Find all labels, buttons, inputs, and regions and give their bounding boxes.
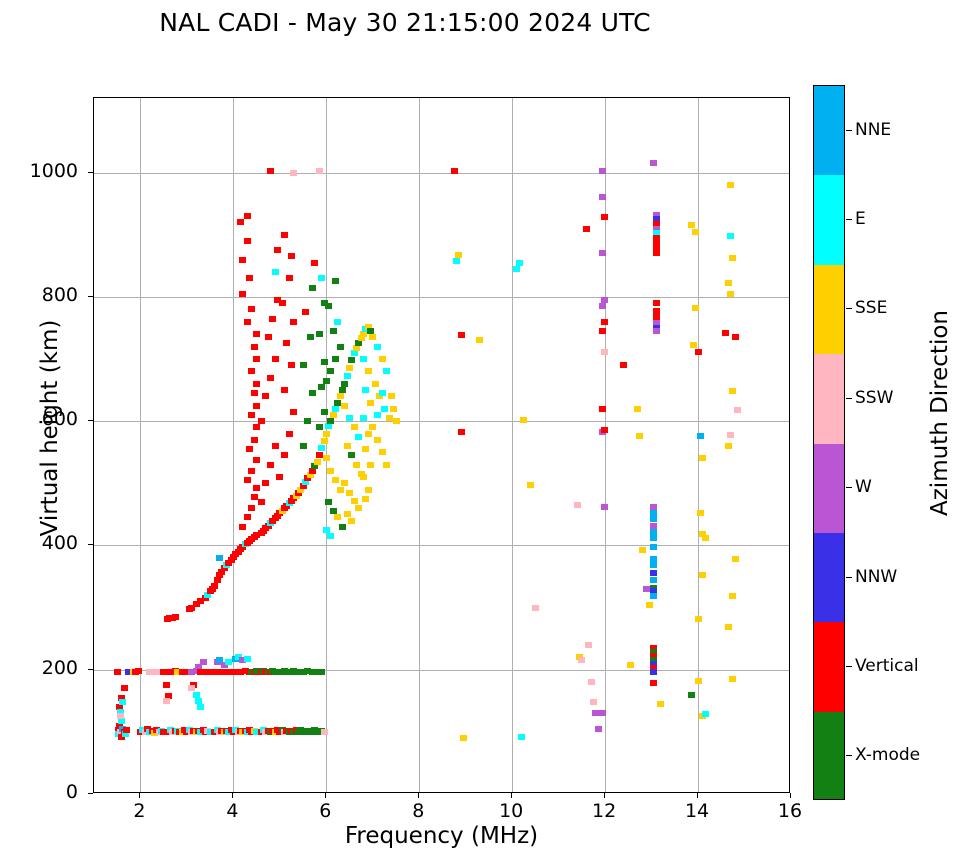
- echo-point: [355, 434, 362, 440]
- echo-point: [321, 438, 328, 444]
- echo-point: [316, 424, 323, 430]
- echo-point: [360, 356, 367, 362]
- echo-point: [239, 291, 246, 297]
- echo-point: [599, 406, 606, 412]
- echo-point: [253, 356, 260, 362]
- echo-point: [729, 676, 736, 682]
- echo-point: [251, 494, 258, 500]
- y-axis-title: Virtual height (km): [37, 248, 63, 608]
- echo-point: [695, 678, 702, 684]
- echo-point: [634, 406, 641, 412]
- echo-point: [518, 734, 525, 740]
- echo-point: [327, 368, 334, 374]
- echo-point: [639, 547, 646, 553]
- echo-point: [341, 403, 348, 409]
- page-title: NAL CADI - May 30 21:15:00 2024 UTC: [0, 8, 810, 37]
- echo-point: [237, 219, 244, 225]
- ionogram-figure: NAL CADI - May 30 21:15:00 2024 UTC 2468…: [0, 0, 958, 857]
- echo-point: [344, 373, 351, 379]
- y-tick-label: 0: [0, 781, 78, 803]
- echo-point: [253, 457, 260, 463]
- echo-point: [316, 168, 323, 174]
- echo-point: [216, 555, 223, 561]
- echo-point: [365, 368, 372, 374]
- echo-point: [386, 415, 393, 421]
- echo-point: [262, 480, 269, 486]
- echo-point: [253, 485, 260, 491]
- colorbar-segment: [814, 712, 844, 800]
- echo-point: [372, 381, 379, 387]
- echo-point: [318, 669, 325, 675]
- echo-point: [653, 308, 660, 314]
- echo-point: [650, 544, 657, 550]
- echo-point: [650, 593, 657, 599]
- echo-point: [323, 431, 330, 437]
- echo-point: [332, 477, 339, 483]
- echo-point: [732, 556, 739, 562]
- echo-point: [729, 388, 736, 394]
- echo-point: [325, 303, 332, 309]
- echo-point: [225, 659, 232, 665]
- echo-point: [267, 375, 274, 381]
- echo-point: [601, 504, 608, 510]
- echo-point: [332, 278, 339, 284]
- echo-point: [650, 535, 657, 541]
- echo-point: [390, 406, 397, 412]
- echo-point: [211, 583, 218, 589]
- echo-point: [321, 729, 328, 735]
- echo-point: [688, 222, 695, 228]
- echo-point: [516, 260, 523, 266]
- echo-point: [595, 726, 602, 732]
- colorbar-label-nnw: NNW: [855, 567, 897, 587]
- echo-point: [339, 387, 346, 393]
- echo-point: [290, 409, 297, 415]
- colorbar-tick-mark: [846, 219, 852, 220]
- echo-point: [697, 510, 704, 516]
- echo-point: [369, 334, 376, 340]
- x-tick-label: 14: [667, 800, 727, 822]
- echo-point: [722, 330, 729, 336]
- colorbar-tick-mark: [846, 308, 852, 309]
- echo-point: [200, 659, 207, 665]
- echo-point: [253, 424, 260, 430]
- echo-point: [367, 462, 374, 468]
- echo-point: [248, 412, 255, 418]
- x-tick-mark: [511, 793, 512, 798]
- echo-point: [244, 477, 251, 483]
- echo-point: [121, 685, 128, 691]
- colorbar-label-vertical: Vertical: [855, 656, 919, 676]
- echo-point: [636, 433, 643, 439]
- echo-point: [360, 415, 367, 421]
- echo-point: [653, 314, 660, 320]
- echo-point: [318, 445, 325, 451]
- echo-point: [244, 213, 251, 219]
- echo-point: [269, 316, 276, 322]
- echo-point: [599, 303, 606, 309]
- echo-point: [281, 232, 288, 238]
- echo-point: [267, 168, 274, 174]
- echo-point: [650, 562, 657, 568]
- echo-point: [374, 344, 381, 350]
- echo-point: [163, 682, 170, 688]
- echo-point: [599, 328, 606, 334]
- echo-point: [332, 356, 339, 362]
- echo-point: [729, 255, 736, 261]
- echo-point: [248, 468, 255, 474]
- colorbar-segment: [814, 622, 844, 711]
- echo-point: [272, 443, 279, 449]
- echo-point: [135, 668, 142, 674]
- echo-point: [251, 390, 258, 396]
- echo-point: [729, 593, 736, 599]
- x-tick-mark: [325, 793, 326, 798]
- echo-point: [362, 496, 369, 502]
- echo-point: [527, 482, 534, 488]
- echo-point: [532, 605, 539, 611]
- echo-point: [692, 305, 699, 311]
- echo-point: [337, 393, 344, 399]
- echo-point: [316, 452, 323, 458]
- echo-point: [348, 357, 355, 363]
- echo-point: [367, 328, 374, 334]
- echo-point: [578, 657, 585, 663]
- echo-point: [330, 508, 337, 514]
- echo-point: [230, 669, 237, 675]
- echo-point: [318, 384, 325, 390]
- echo-point: [334, 514, 341, 520]
- x-tick-label: 8: [388, 800, 448, 822]
- colorbar-segment: [814, 533, 844, 622]
- echo-point: [321, 409, 328, 415]
- echo-point: [272, 356, 279, 362]
- echo-point: [383, 368, 390, 374]
- echo-point: [195, 698, 202, 704]
- echo-point: [599, 250, 606, 256]
- echo-point: [316, 331, 323, 337]
- colorbar-label-w: W: [855, 477, 872, 497]
- x-tick-label: 12: [574, 800, 634, 822]
- echo-point: [697, 433, 704, 439]
- echo-point: [599, 168, 606, 174]
- echo-point: [388, 393, 395, 399]
- echo-point: [339, 524, 346, 530]
- echo-point: [381, 406, 388, 412]
- echo-point: [725, 443, 732, 449]
- echo-point: [265, 334, 272, 340]
- echo-point: [657, 701, 664, 707]
- x-tick-mark: [139, 793, 140, 798]
- echo-point: [348, 518, 355, 524]
- echo-point: [288, 362, 295, 368]
- echo-point: [163, 698, 170, 704]
- colorbar-tick-mark: [846, 755, 852, 756]
- echo-point: [725, 280, 732, 286]
- echo-point: [309, 285, 316, 291]
- echo-point: [253, 331, 260, 337]
- echo-point: [288, 253, 295, 259]
- echo-point: [601, 319, 608, 325]
- x-tick-mark: [232, 793, 233, 798]
- echo-point: [590, 699, 597, 705]
- y-tick-mark: [88, 544, 93, 545]
- y-tick-mark: [88, 420, 93, 421]
- colorbar-tick-mark: [846, 487, 852, 488]
- echo-point: [379, 390, 386, 396]
- echo-point: [244, 514, 251, 520]
- echo-point: [314, 459, 321, 465]
- echo-point: [290, 170, 297, 176]
- colorbar-tick-mark: [846, 666, 852, 667]
- echo-point: [620, 362, 627, 368]
- echo-point: [272, 269, 279, 275]
- echo-point: [458, 429, 465, 435]
- echo-point: [281, 452, 288, 458]
- echo-point: [123, 727, 130, 733]
- echo-point: [172, 614, 179, 620]
- echo-point: [653, 300, 660, 306]
- echo-point: [244, 238, 251, 244]
- echo-point: [276, 474, 283, 480]
- echo-point: [374, 412, 381, 418]
- echo-point: [323, 378, 330, 384]
- echo-point: [323, 455, 330, 461]
- echo-point: [153, 669, 160, 675]
- echo-point: [163, 669, 170, 675]
- echo-point: [114, 669, 121, 675]
- echo-point: [650, 669, 657, 675]
- echo-point: [574, 502, 581, 508]
- colorbar-label-x-mode: X-mode: [855, 745, 920, 765]
- echo-point: [650, 680, 657, 686]
- echo-point: [369, 424, 376, 430]
- echo-point: [251, 437, 258, 443]
- echo-point: [348, 452, 355, 458]
- echo-point: [353, 462, 360, 468]
- echo-point: [365, 431, 372, 437]
- echo-point: [283, 340, 290, 346]
- data-points-layer: [94, 98, 789, 792]
- echo-point: [650, 529, 657, 535]
- colorbar-segment: [814, 354, 844, 443]
- y-tick-mark: [88, 669, 93, 670]
- echo-point: [300, 443, 307, 449]
- echo-point: [327, 418, 334, 424]
- echo-point: [119, 699, 126, 705]
- echo-point: [325, 499, 332, 505]
- echo-point: [239, 257, 246, 263]
- echo-point: [251, 344, 258, 350]
- echo-point: [601, 427, 608, 433]
- echo-point: [146, 669, 153, 675]
- colorbar-segment: [814, 265, 844, 354]
- echo-point: [304, 418, 311, 424]
- echo-point: [327, 533, 334, 539]
- echo-point: [321, 359, 328, 365]
- x-tick-label: 10: [481, 800, 541, 822]
- echo-point: [360, 474, 367, 480]
- echo-point: [311, 260, 318, 266]
- echo-point: [688, 692, 695, 698]
- echo-point: [599, 194, 606, 200]
- echo-point: [307, 334, 314, 340]
- x-tick-mark: [790, 793, 791, 798]
- echo-point: [267, 462, 274, 468]
- echo-point: [244, 319, 251, 325]
- echo-point: [355, 505, 362, 511]
- echo-point: [193, 692, 200, 698]
- echo-point: [188, 685, 195, 691]
- echo-point: [653, 328, 660, 334]
- echo-point: [650, 577, 657, 583]
- echo-point: [453, 258, 460, 264]
- echo-point: [650, 160, 657, 166]
- echo-point: [179, 669, 186, 675]
- echo-point: [702, 535, 709, 541]
- echo-point: [323, 527, 330, 533]
- echo-point: [330, 328, 337, 334]
- echo-point: [699, 455, 706, 461]
- echo-point: [362, 387, 369, 393]
- echo-point: [337, 344, 344, 350]
- echo-point: [344, 443, 351, 449]
- colorbar: [813, 85, 845, 800]
- echo-point: [286, 431, 293, 437]
- echo-point: [692, 229, 699, 235]
- y-tick-mark: [88, 172, 93, 173]
- echo-point: [653, 239, 660, 245]
- echo-point: [650, 516, 657, 522]
- echo-point: [341, 480, 348, 486]
- echo-point: [262, 393, 269, 399]
- echo-point: [458, 332, 465, 338]
- plot-area: [93, 97, 790, 793]
- echo-point: [727, 182, 734, 188]
- colorbar-tick-mark: [846, 577, 852, 578]
- echo-point: [650, 556, 657, 562]
- echo-point: [334, 319, 341, 325]
- echo-point: [300, 362, 307, 368]
- echo-point: [520, 417, 527, 423]
- echo-point: [290, 319, 297, 325]
- echo-point: [351, 498, 358, 504]
- echo-point: [585, 642, 592, 648]
- x-tick-mark: [604, 793, 605, 798]
- echo-point: [197, 704, 204, 710]
- echo-point: [460, 735, 467, 741]
- colorbar-label-ssw: SSW: [855, 388, 893, 408]
- echo-point: [367, 400, 374, 406]
- echo-point: [365, 487, 372, 493]
- echo-point: [653, 250, 660, 256]
- echo-point: [583, 226, 590, 232]
- echo-point: [393, 418, 400, 424]
- echo-point: [379, 356, 386, 362]
- colorbar-title: Azimuth Direction: [927, 233, 953, 593]
- echo-point: [374, 437, 381, 443]
- echo-point: [690, 342, 697, 348]
- echo-point: [643, 586, 650, 592]
- echo-point: [650, 510, 657, 516]
- echo-point: [601, 349, 608, 355]
- colorbar-label-e: E: [855, 209, 866, 229]
- echo-point: [451, 168, 458, 174]
- echo-point: [513, 266, 520, 272]
- colorbar-tick-mark: [846, 130, 852, 131]
- echo-point: [732, 334, 739, 340]
- x-axis-title: Frequency (MHz): [93, 823, 790, 849]
- echo-point: [699, 572, 706, 578]
- echo-point: [279, 300, 286, 306]
- echo-point: [258, 499, 265, 505]
- echo-point: [302, 309, 309, 315]
- echo-point: [244, 656, 251, 662]
- echo-point: [455, 252, 462, 258]
- x-tick-mark: [418, 793, 419, 798]
- echo-point: [309, 390, 316, 396]
- echo-point: [646, 602, 653, 608]
- echo-point: [253, 403, 260, 409]
- echo-point: [695, 349, 702, 355]
- x-tick-label: 6: [295, 800, 355, 822]
- echo-point: [258, 418, 265, 424]
- echo-point: [248, 306, 255, 312]
- echo-point: [341, 381, 348, 387]
- echo-point: [650, 570, 657, 576]
- echo-point: [362, 446, 369, 452]
- echo-point: [379, 449, 386, 455]
- echo-point: [117, 713, 124, 719]
- y-tick-mark: [88, 296, 93, 297]
- echo-point: [337, 487, 344, 493]
- x-tick-label: 16: [760, 800, 820, 822]
- colorbar-tick-mark: [846, 398, 852, 399]
- x-tick-mark: [697, 793, 698, 798]
- echo-point: [246, 446, 253, 452]
- echo-point: [346, 365, 353, 371]
- echo-point: [253, 381, 260, 387]
- echo-point: [248, 505, 255, 511]
- echo-point: [274, 247, 281, 253]
- echo-point: [727, 432, 734, 438]
- echo-point: [318, 275, 325, 281]
- echo-point: [476, 337, 483, 343]
- echo-point: [351, 424, 358, 430]
- echo-point: [695, 616, 702, 622]
- echo-point: [727, 291, 734, 297]
- echo-point: [588, 679, 595, 685]
- echo-point: [702, 711, 709, 717]
- echo-point: [211, 669, 218, 675]
- echo-point: [248, 368, 255, 374]
- echo-point: [592, 710, 599, 716]
- echo-point: [346, 490, 353, 496]
- echo-point: [601, 214, 608, 220]
- echo-point: [281, 387, 288, 393]
- colorbar-segment: [814, 175, 844, 264]
- echo-point: [344, 511, 351, 517]
- echo-point: [330, 412, 337, 418]
- echo-point: [725, 624, 732, 630]
- colorbar-segment: [814, 86, 844, 175]
- colorbar-segment: [814, 444, 844, 533]
- echo-point: [286, 275, 293, 281]
- echo-point: [246, 275, 253, 281]
- echo-point: [332, 406, 339, 412]
- x-tick-label: 4: [202, 800, 262, 822]
- echo-point: [734, 407, 741, 413]
